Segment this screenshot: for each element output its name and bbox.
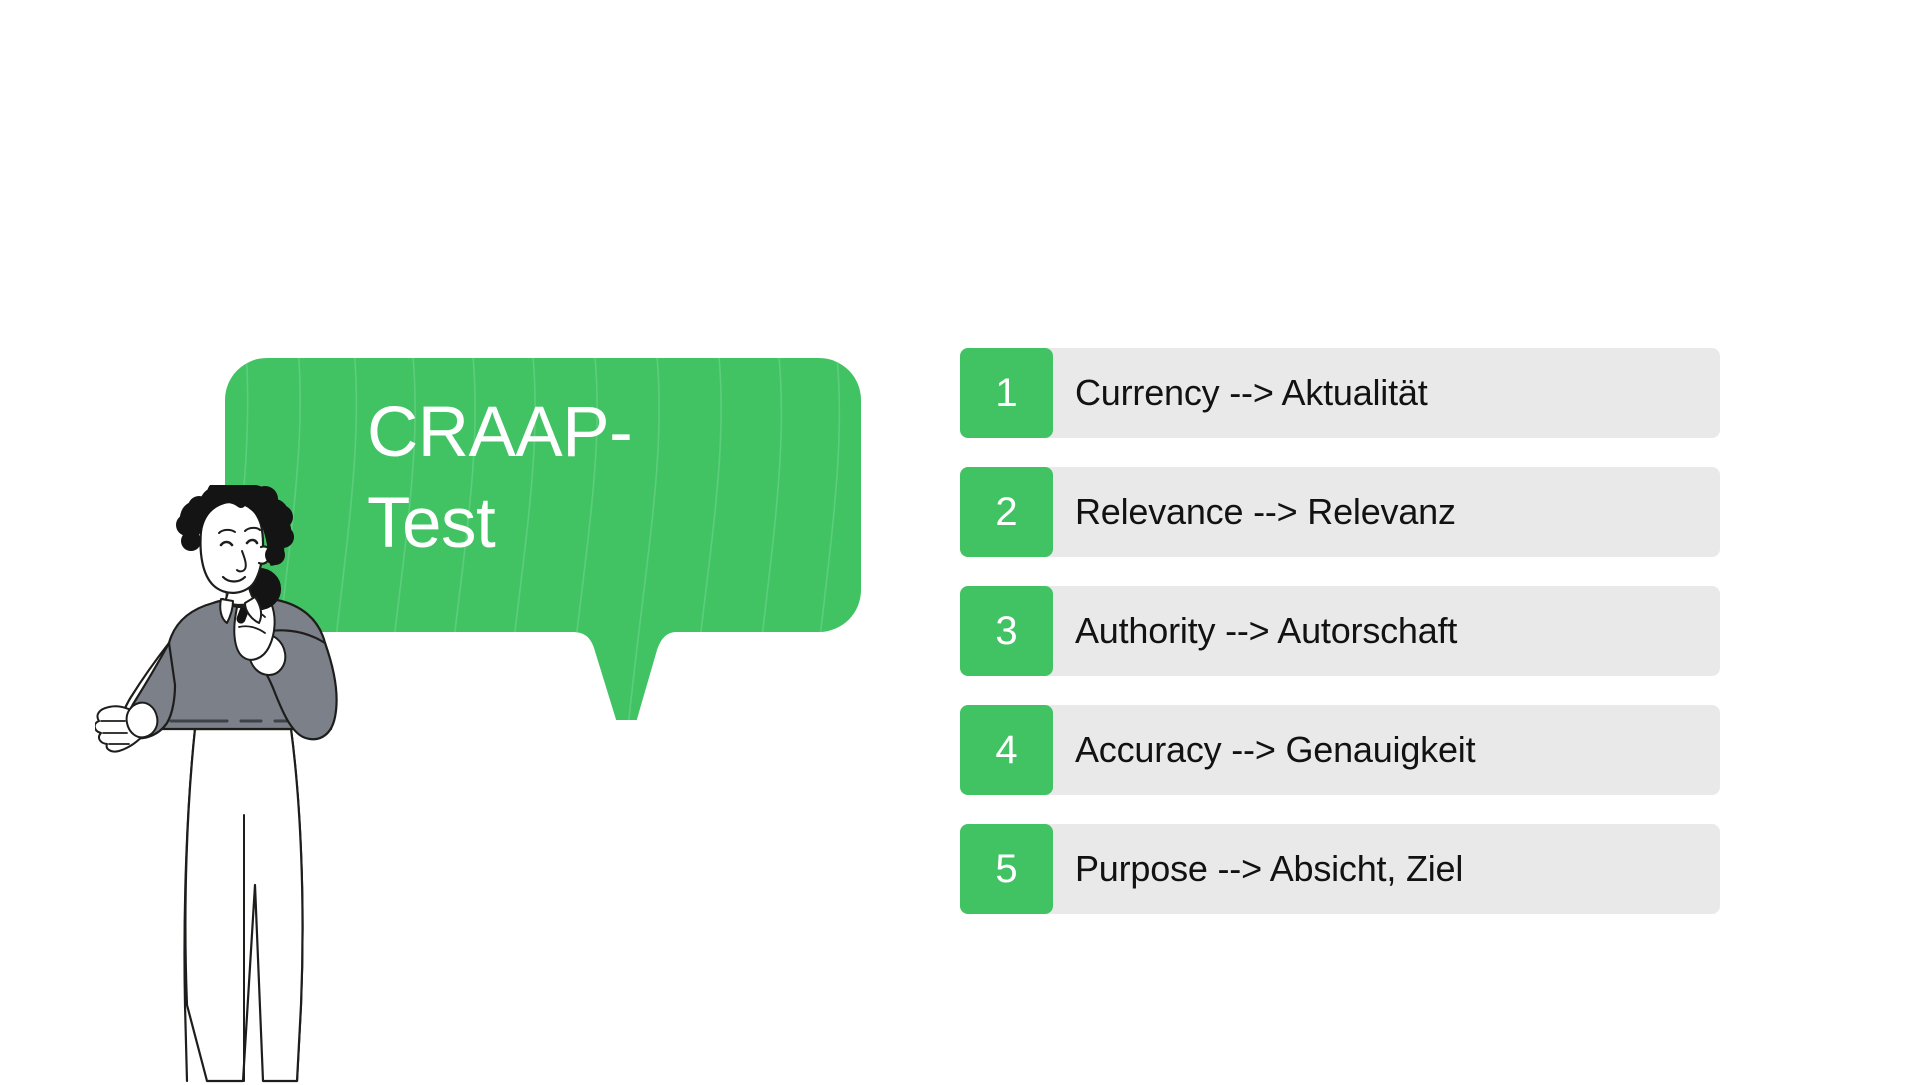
list-item-number: 5 [995, 847, 1017, 892]
list-item-label: Relevance --> Relevanz [1075, 494, 1456, 530]
list-item-number: 1 [995, 371, 1017, 416]
list-item-bar: Purpose --> Absicht, Ziel [1041, 824, 1720, 914]
list-item-number-badge: 1 [960, 348, 1053, 438]
list-item-number: 4 [995, 728, 1017, 773]
list-item-number-badge: 4 [960, 705, 1053, 795]
list-item-number-badge: 5 [960, 824, 1053, 914]
list-item-label: Accuracy --> Genauigkeit [1075, 732, 1475, 768]
slide-canvas: CRAAP- Test [0, 0, 1920, 1080]
list-item-number-badge: 3 [960, 586, 1053, 676]
list-item-bar: Authority --> Autorschaft [1041, 586, 1720, 676]
list-item-bar: Relevance --> Relevanz [1041, 467, 1720, 557]
list-item-number: 2 [995, 490, 1017, 535]
list-item-label: Purpose --> Absicht, Ziel [1075, 851, 1463, 887]
list-item-bar: Currency --> Aktualität [1041, 348, 1720, 438]
illustration-area: CRAAP- Test [0, 0, 920, 1080]
list-item-label: Currency --> Aktualität [1075, 375, 1428, 411]
list-item[interactable]: 3 Authority --> Autorschaft [960, 586, 1720, 676]
list-item[interactable]: 1 Currency --> Aktualität [960, 348, 1720, 438]
craap-list: 1 Currency --> Aktualität 2 Relevance --… [960, 348, 1720, 914]
list-item[interactable]: 4 Accuracy --> Genauigkeit [960, 705, 1720, 795]
list-item-label: Authority --> Autorschaft [1075, 613, 1457, 649]
person-illustration [95, 485, 425, 1085]
list-item-number: 3 [995, 609, 1017, 654]
list-item-bar: Accuracy --> Genauigkeit [1041, 705, 1720, 795]
list-item-number-badge: 2 [960, 467, 1053, 557]
list-item[interactable]: 2 Relevance --> Relevanz [960, 467, 1720, 557]
list-item[interactable]: 5 Purpose --> Absicht, Ziel [960, 824, 1720, 914]
bubble-title: CRAAP- Test [367, 388, 767, 570]
